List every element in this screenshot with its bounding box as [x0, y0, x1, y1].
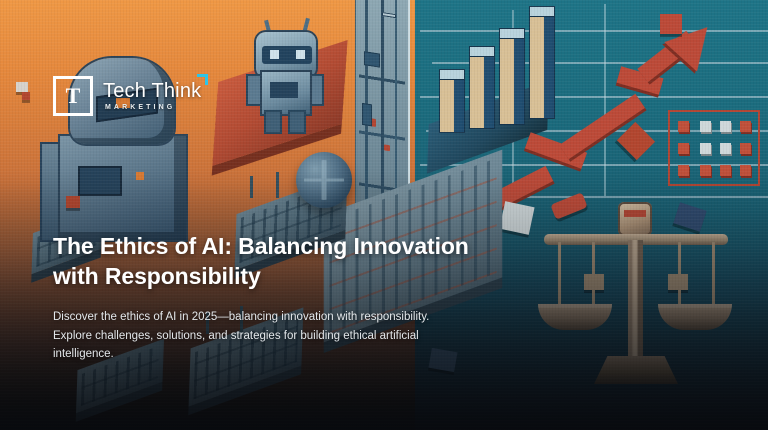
hero-content: The Ethics of AI: Balancing Innovation w…	[53, 232, 483, 364]
logo-mark-letter: T	[66, 85, 81, 107]
logo-tagline: MARKETING	[103, 104, 201, 111]
page-title: The Ethics of AI: Balancing Innovation w…	[53, 232, 483, 292]
logo-brand-name: Tech Think	[103, 81, 201, 102]
icon-grid-box	[668, 110, 760, 186]
logo-wordmark: Tech Think MARKETING	[103, 81, 201, 111]
logo-corner-accent-icon	[197, 74, 208, 85]
wireframe-sphere	[296, 152, 352, 208]
logo-mark-icon: T	[53, 76, 93, 116]
page-description: Discover the ethics of AI in 2025—balanc…	[53, 308, 445, 364]
scales-of-justice-icon	[536, 196, 736, 396]
hero-banner: T Tech Think MARKETING The Ethics of AI:…	[0, 0, 768, 430]
small-robot-character	[242, 18, 328, 126]
brand-logo[interactable]: T Tech Think MARKETING	[53, 76, 201, 116]
